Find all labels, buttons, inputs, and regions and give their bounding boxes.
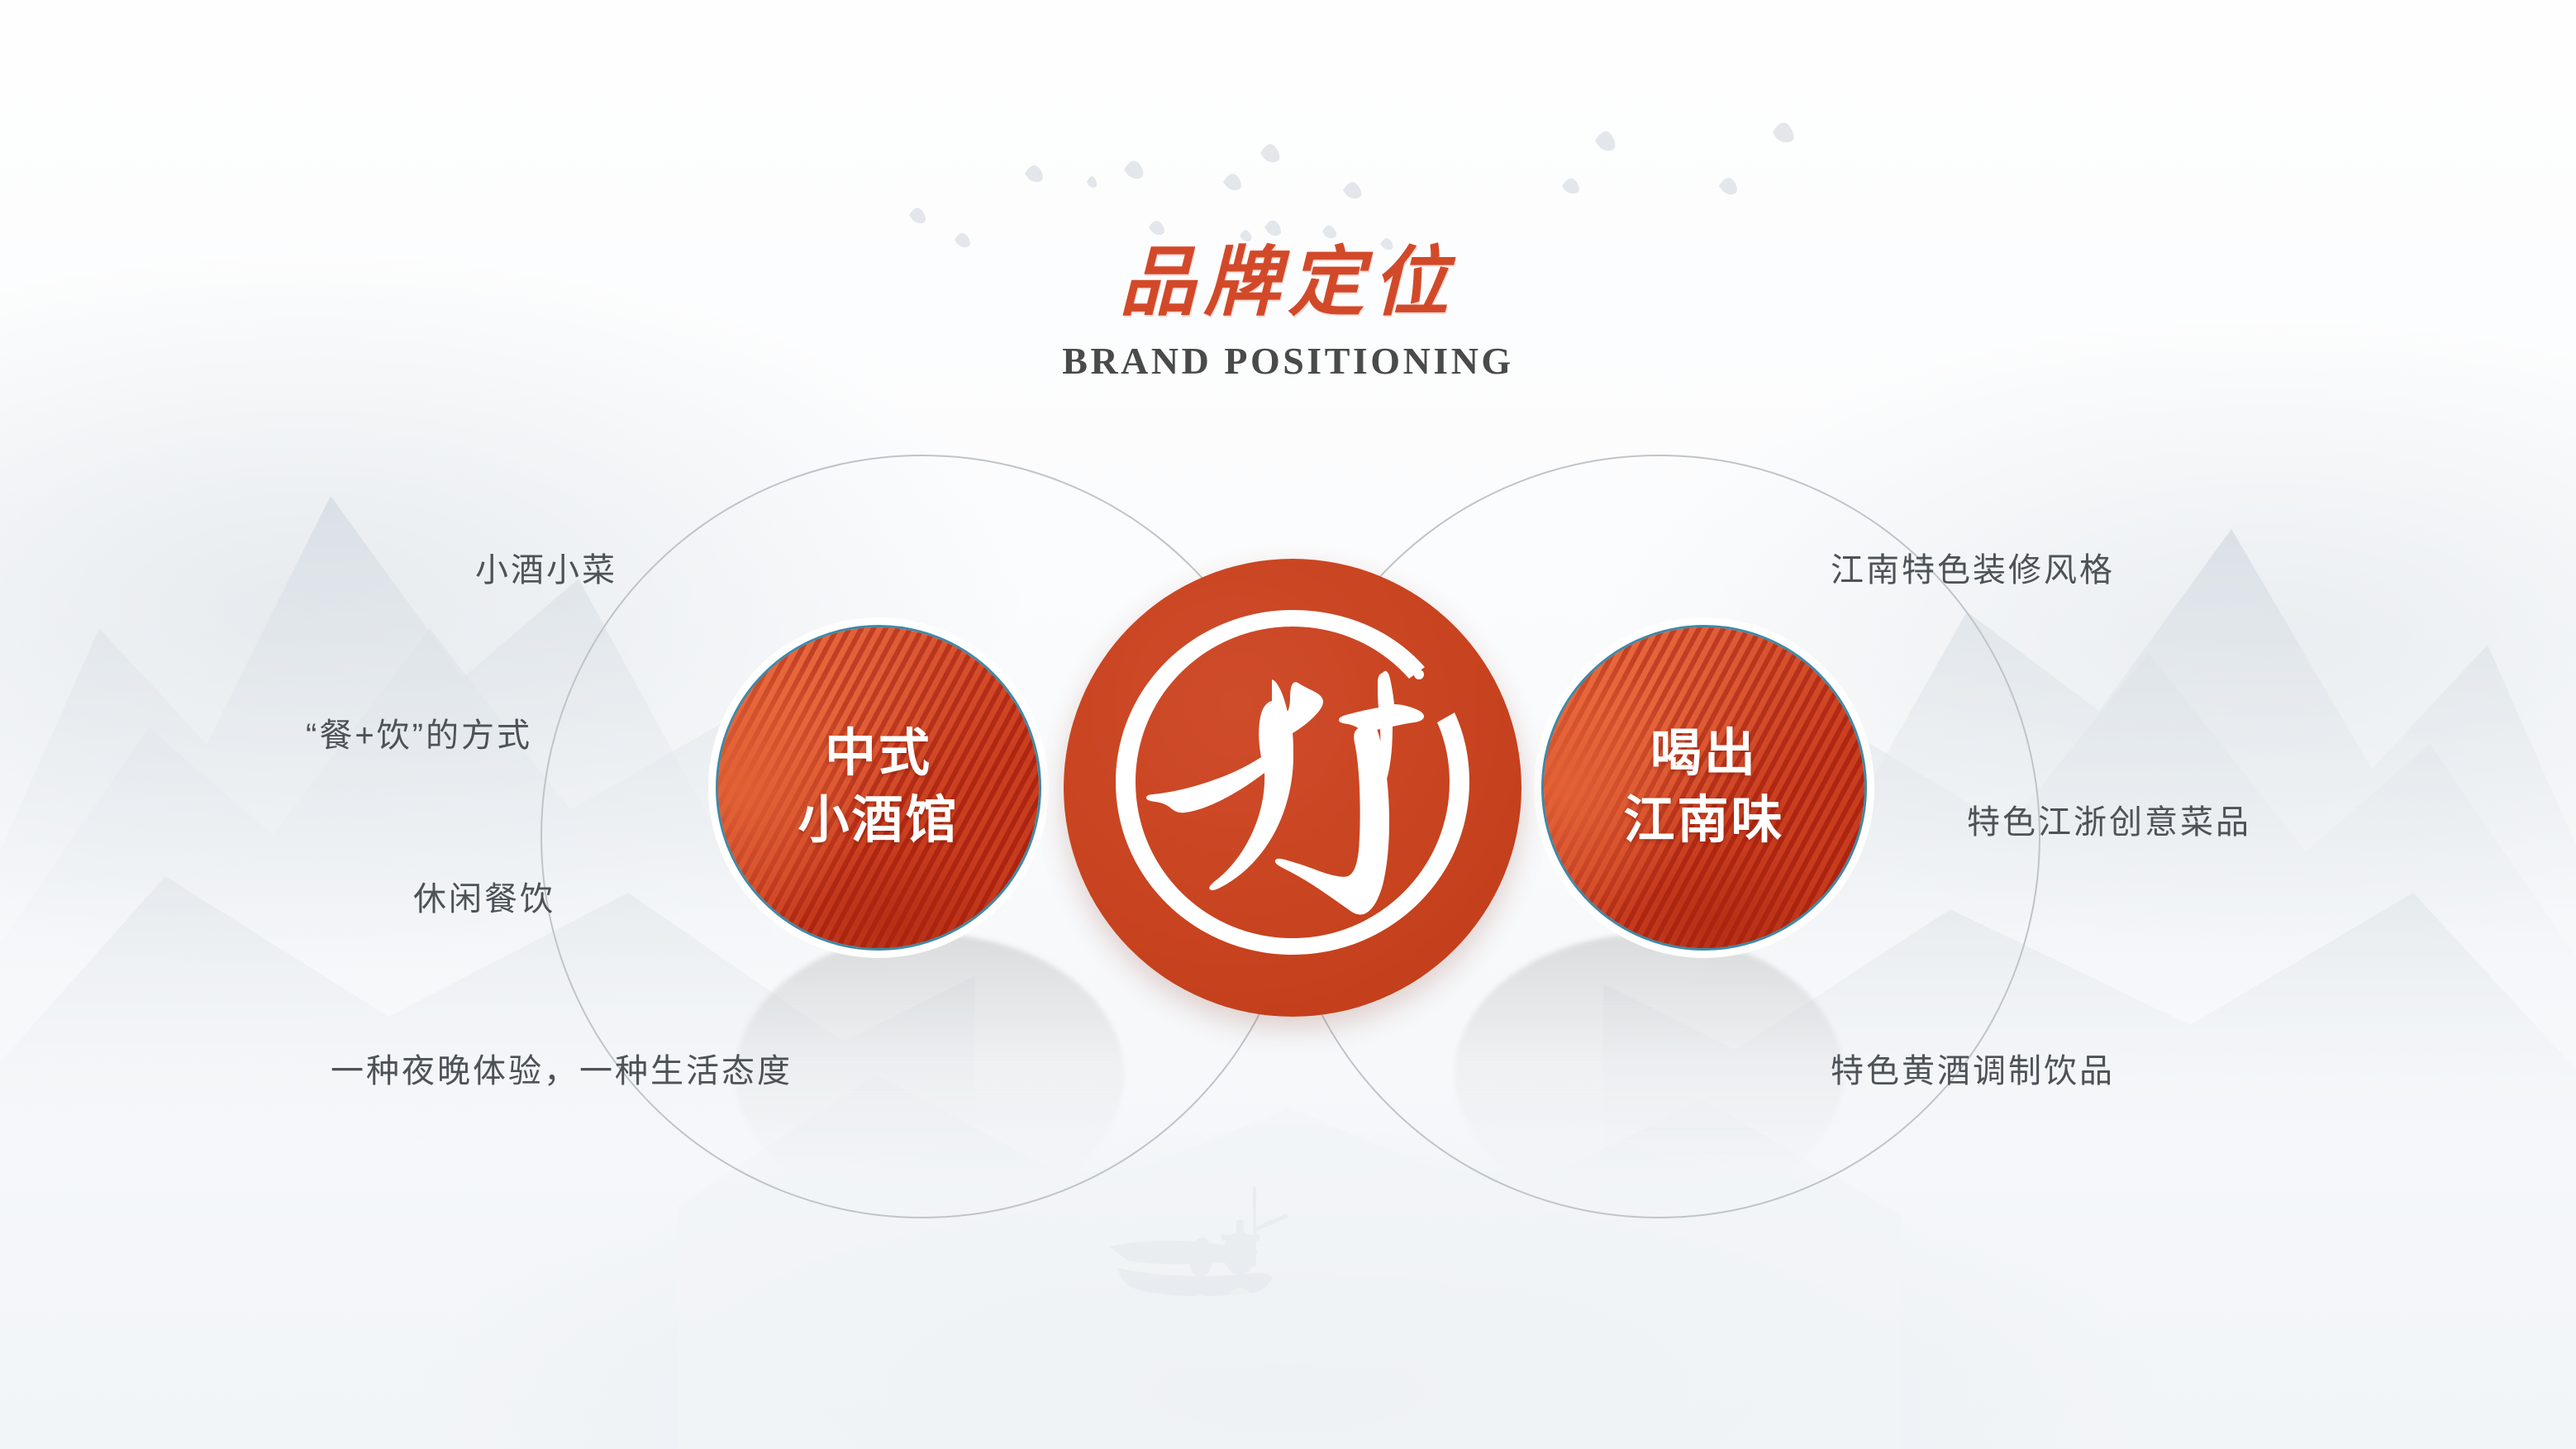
brand-logo[interactable]	[1064, 559, 1521, 1017]
caption-left-2: “餐+饮”的方式	[306, 719, 532, 752]
concept-right-line1: 喝出	[1623, 721, 1784, 788]
concept-left-line2: 小酒馆	[798, 788, 959, 855]
concept-circle-left[interactable]: 中式 小酒馆	[716, 625, 1041, 951]
caption-right-2: 特色江浙创意菜品	[1967, 806, 2251, 839]
flying-birds-icon	[876, 83, 1835, 265]
slide-canvas: 品牌定位 BRAND POSITIONING 中式 小酒馆 喝出 江南味	[0, 0, 2576, 1449]
caption-right-3: 特色黄酒调制饮品	[1831, 1055, 2115, 1088]
title-english: BRAND POSITIONING	[0, 342, 2576, 380]
jiu-calligraphy-icon	[1064, 559, 1521, 1017]
caption-right-1: 江南特色装修风格	[1831, 554, 2115, 587]
caption-left-3: 休闲餐饮	[413, 883, 555, 916]
concept-label-right: 喝出 江南味	[1623, 721, 1784, 854]
concept-circle-right[interactable]: 喝出 江南味	[1541, 625, 1867, 951]
concept-label-left: 中式 小酒馆	[798, 721, 959, 854]
concept-right-line2: 江南味	[1623, 788, 1784, 855]
caption-left-1: 小酒小菜	[475, 554, 617, 587]
title-chinese: 品牌定位	[0, 245, 2576, 321]
fishing-boat-icon	[1099, 1182, 1347, 1372]
page-title: 品牌定位 BRAND POSITIONING	[0, 245, 2576, 380]
concept-left-line1: 中式	[798, 721, 959, 788]
caption-left-4: 一种夜晚体验，一种生活态度	[331, 1055, 793, 1088]
